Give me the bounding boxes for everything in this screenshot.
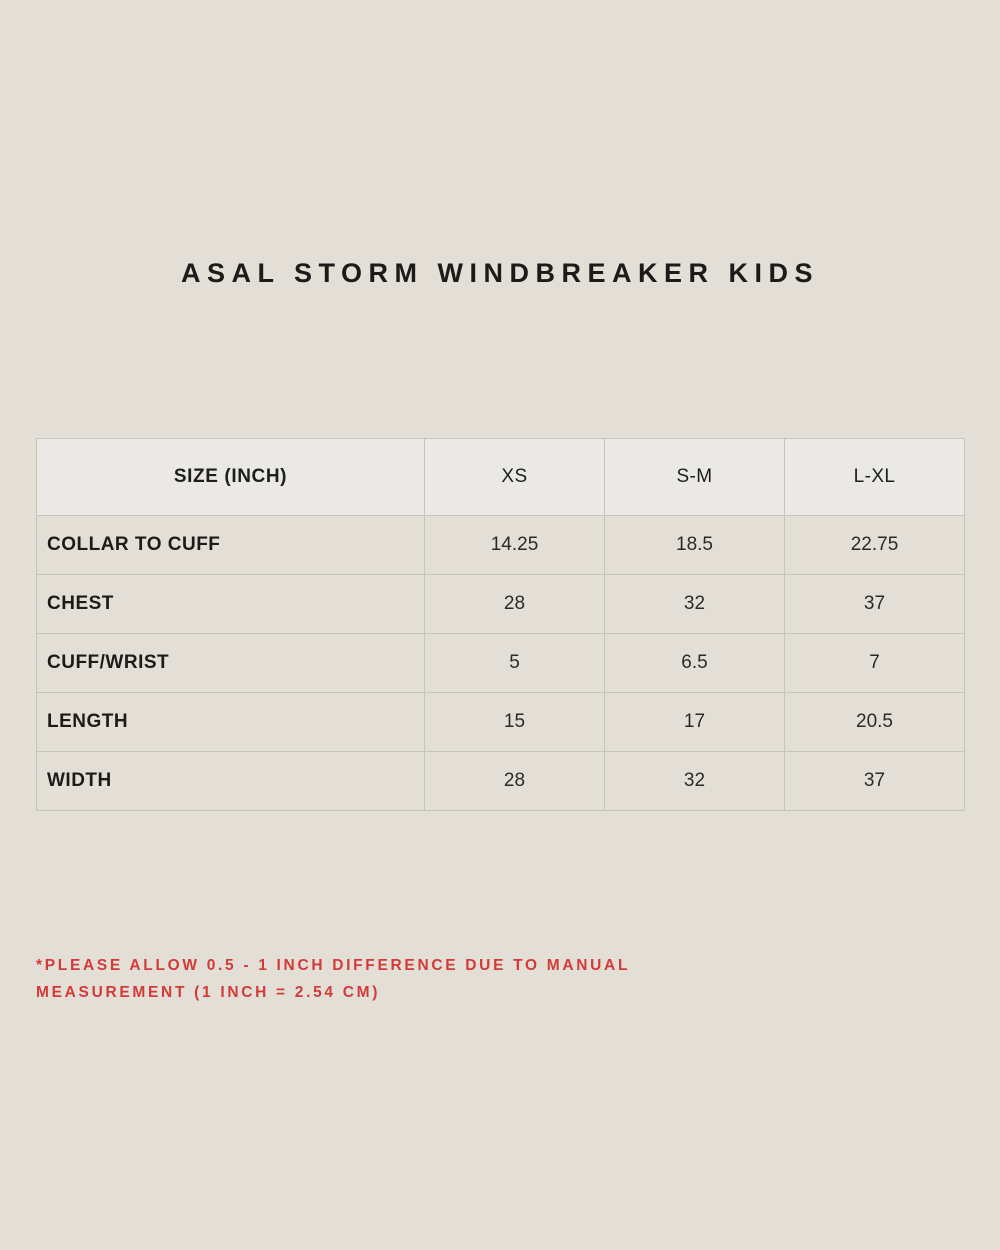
row-value-lxl: 37 (785, 575, 965, 634)
row-value-xs: 28 (425, 575, 605, 634)
size-chart-table: SIZE (INCH) XS S-M L-XL COLLAR TO CUFF 1… (36, 438, 965, 811)
column-header-xs: XS (425, 439, 605, 516)
row-label: CHEST (37, 575, 425, 634)
size-chart-page: ASAL STORM WINDBREAKER KIDS SIZE (INCH) … (0, 0, 1000, 1250)
column-header-lxl: L-XL (785, 439, 965, 516)
table-header: SIZE (INCH) XS S-M L-XL (37, 439, 965, 516)
row-value-sm: 32 (605, 575, 785, 634)
table-body: COLLAR TO CUFF 14.25 18.5 22.75 CHEST 28… (37, 516, 965, 811)
row-value-xs: 15 (425, 693, 605, 752)
row-label: WIDTH (37, 752, 425, 811)
row-value-xs: 28 (425, 752, 605, 811)
row-value-xs: 5 (425, 634, 605, 693)
disclaimer-line-2: MEASUREMENT (1 INCH = 2.54 CM) (36, 979, 886, 1006)
row-label: LENGTH (37, 693, 425, 752)
measurement-disclaimer: *PLEASE ALLOW 0.5 - 1 INCH DIFFERENCE DU… (36, 952, 886, 1006)
table-row: CUFF/WRIST 5 6.5 7 (37, 634, 965, 693)
row-value-sm: 18.5 (605, 516, 785, 575)
column-header-measurement: SIZE (INCH) (37, 439, 425, 516)
table-row: CHEST 28 32 37 (37, 575, 965, 634)
row-value-sm: 6.5 (605, 634, 785, 693)
column-header-sm: S-M (605, 439, 785, 516)
row-value-lxl: 22.75 (785, 516, 965, 575)
table-header-row: SIZE (INCH) XS S-M L-XL (37, 439, 965, 516)
row-label: COLLAR TO CUFF (37, 516, 425, 575)
disclaimer-line-1: *PLEASE ALLOW 0.5 - 1 INCH DIFFERENCE DU… (36, 952, 886, 979)
row-value-lxl: 7 (785, 634, 965, 693)
row-label: CUFF/WRIST (37, 634, 425, 693)
table-row: COLLAR TO CUFF 14.25 18.5 22.75 (37, 516, 965, 575)
table-row: WIDTH 28 32 37 (37, 752, 965, 811)
table-row: LENGTH 15 17 20.5 (37, 693, 965, 752)
row-value-lxl: 20.5 (785, 693, 965, 752)
row-value-lxl: 37 (785, 752, 965, 811)
row-value-sm: 17 (605, 693, 785, 752)
row-value-sm: 32 (605, 752, 785, 811)
page-title: ASAL STORM WINDBREAKER KIDS (0, 258, 1000, 289)
row-value-xs: 14.25 (425, 516, 605, 575)
